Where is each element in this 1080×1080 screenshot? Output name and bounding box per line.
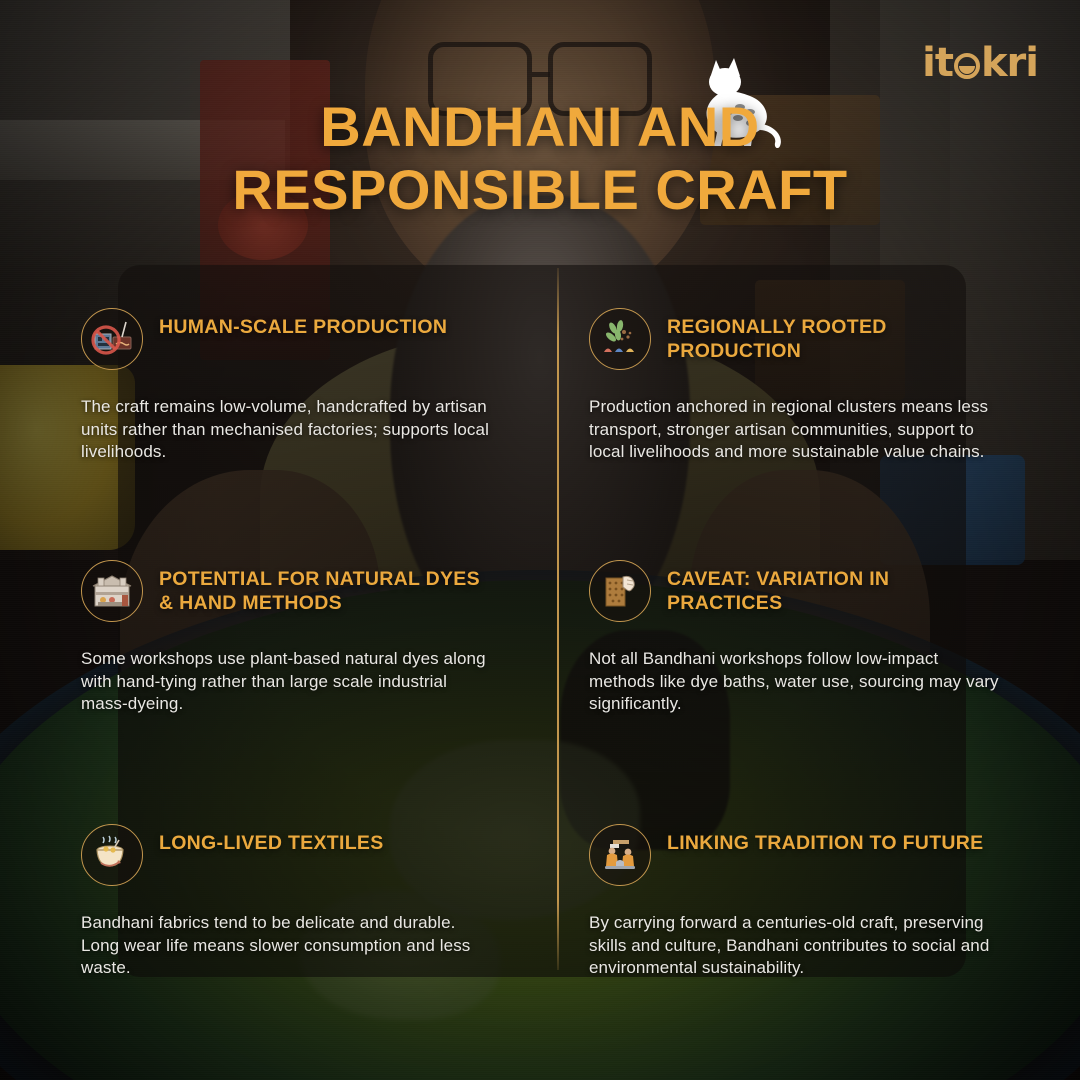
card-body: The craft remains low-volume, handcrafte… bbox=[81, 396, 497, 464]
feature-card-linking-tradition-to-future: LINKING TRADITION TO FUTURE By carrying … bbox=[569, 716, 999, 980]
steaming-dye-pot-icon bbox=[81, 824, 143, 886]
card-title: POTENTIAL FOR NATURAL DYES & HAND METHOD… bbox=[159, 560, 497, 616]
page-title: BANDHANI AND RESPONSIBLE CRAFT bbox=[0, 96, 1080, 221]
feature-card-regionally-rooted-production: REGIONALLY ROOTED PRODUCTION Production … bbox=[569, 280, 999, 464]
feature-card-natural-dyes-hand-methods: POTENTIAL FOR NATURAL DYES & HAND METHOD… bbox=[81, 464, 511, 716]
feature-grid: HUMAN-SCALE PRODUCTION The craft remains… bbox=[0, 280, 1080, 980]
card-header: POTENTIAL FOR NATURAL DYES & HAND METHOD… bbox=[81, 560, 497, 622]
card-title: HUMAN-SCALE PRODUCTION bbox=[159, 308, 447, 340]
page-title-line2: RESPONSIBLE CRAFT bbox=[0, 159, 1080, 222]
card-title: REGIONALLY ROOTED PRODUCTION bbox=[667, 308, 999, 364]
card-header: LONG-LIVED TEXTILES bbox=[81, 824, 497, 886]
card-body: Production anchored in regional clusters… bbox=[589, 396, 999, 464]
leaves-and-dye-powders-icon bbox=[589, 308, 651, 370]
hand-holding-patterned-fabric-icon bbox=[589, 560, 651, 622]
card-title: LONG-LIVED TEXTILES bbox=[159, 824, 384, 856]
card-header: CAVEAT: VARIATION IN PRACTICES bbox=[589, 560, 999, 622]
card-header: LINKING TRADITION TO FUTURE bbox=[589, 824, 999, 886]
brand-logo[interactable]: itkri bbox=[922, 40, 1038, 86]
logo-bowl-glyph bbox=[954, 53, 980, 79]
no-factory-icon bbox=[81, 308, 143, 370]
card-body: Not all Bandhani workshops follow low-im… bbox=[589, 648, 999, 716]
feature-card-long-lived-textiles: LONG-LIVED TEXTILES Bandhani fabrics ten… bbox=[81, 716, 511, 980]
card-title: CAVEAT: VARIATION IN PRACTICES bbox=[667, 560, 999, 616]
card-body: By carrying forward a centuries-old craf… bbox=[589, 912, 999, 980]
card-header: REGIONALLY ROOTED PRODUCTION bbox=[589, 308, 999, 370]
card-body: Some workshops use plant-based natural d… bbox=[81, 648, 497, 716]
brand-logo-text: itkri bbox=[922, 40, 1038, 86]
feature-card-caveat-variation-in-practices: CAVEAT: VARIATION IN PRACTICES Not all B… bbox=[569, 464, 999, 716]
feature-card-human-scale-production: HUMAN-SCALE PRODUCTION The craft remains… bbox=[81, 280, 511, 464]
artisan-workshop-building-icon bbox=[81, 560, 143, 622]
header: itkri BANDHANI AND RESPONSIBLE CRAFT bbox=[0, 0, 1080, 260]
page-title-line1: BANDHANI AND bbox=[0, 96, 1080, 159]
two-artisans-seated-icon bbox=[589, 824, 651, 886]
card-body: Bandhani fabrics tend to be delicate and… bbox=[81, 912, 497, 980]
card-title: LINKING TRADITION TO FUTURE bbox=[667, 824, 983, 856]
card-header: HUMAN-SCALE PRODUCTION bbox=[81, 308, 497, 370]
